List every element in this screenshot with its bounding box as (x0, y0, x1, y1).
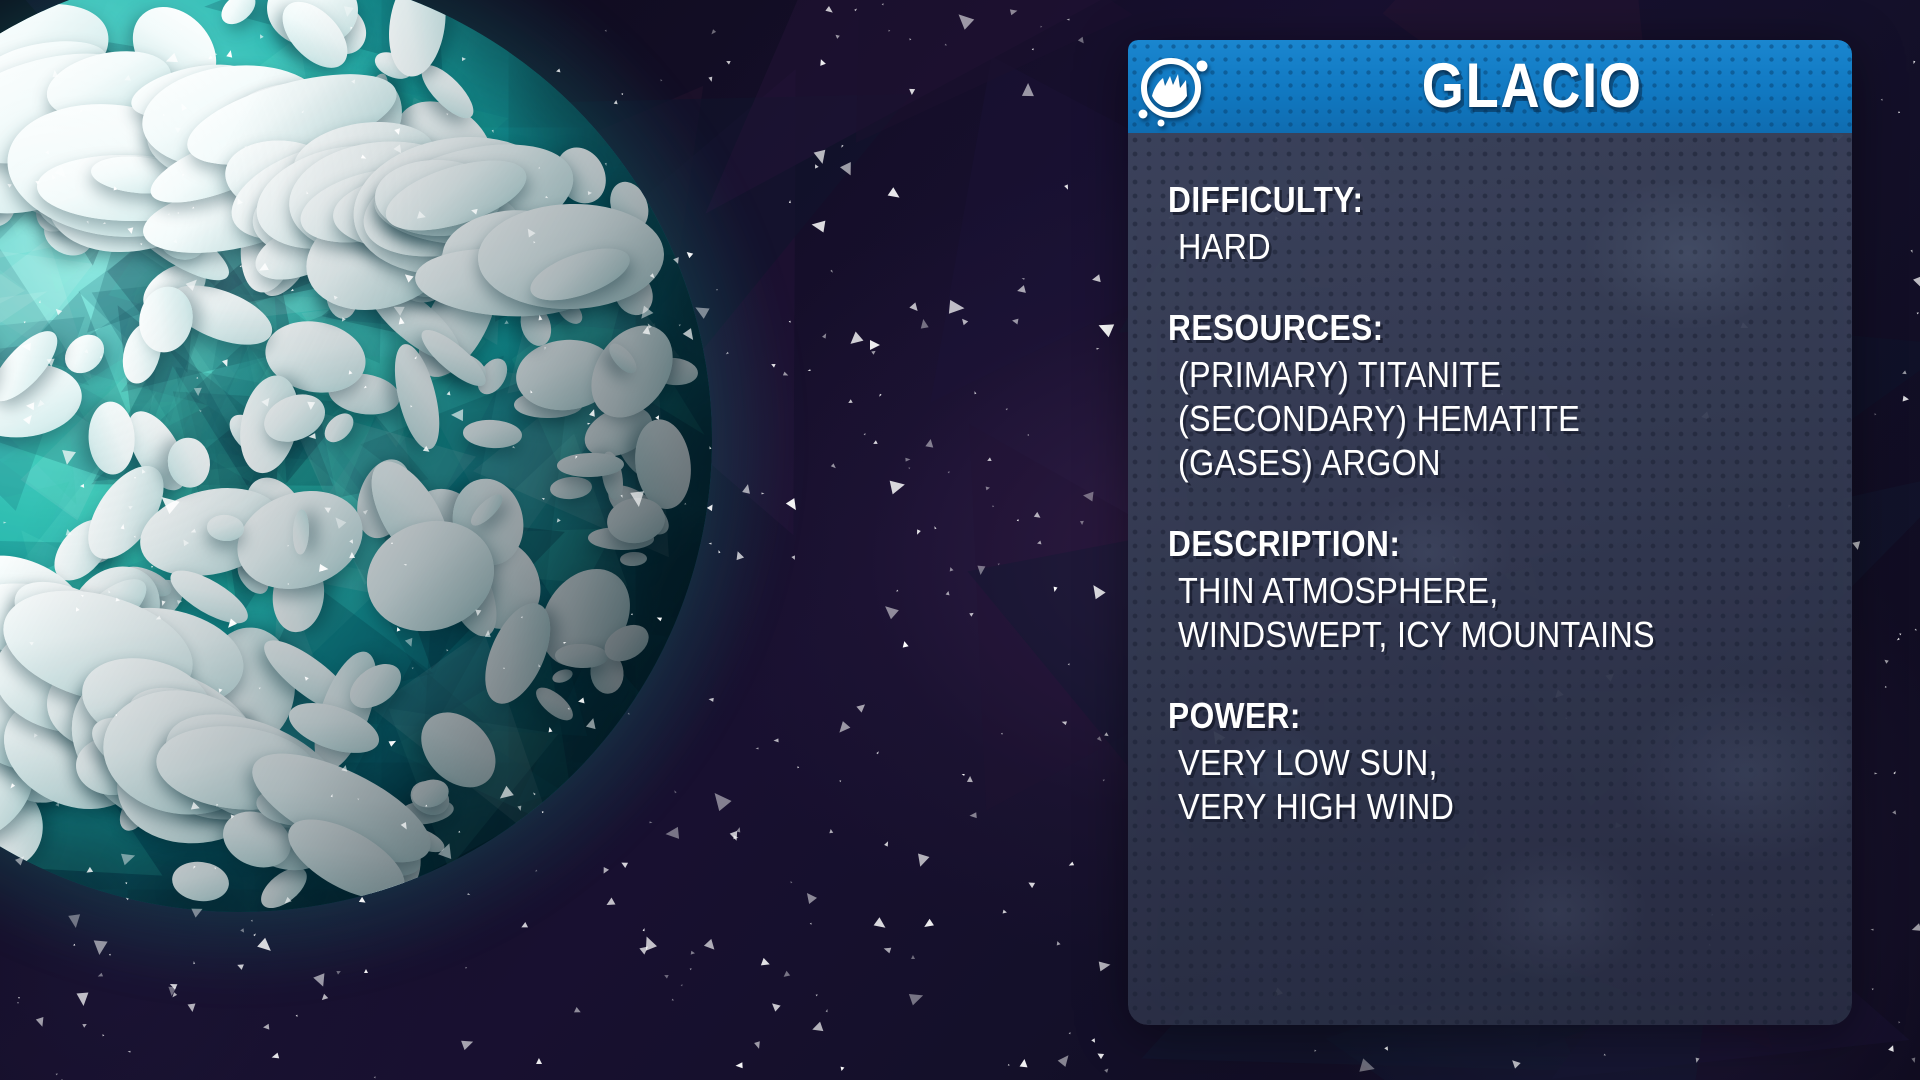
particle (34, 180, 39, 185)
particle (649, 821, 652, 823)
particle (685, 250, 693, 258)
particle (403, 563, 406, 566)
particle (140, 243, 143, 246)
particle (734, 550, 744, 560)
particle (485, 630, 491, 637)
particle (949, 300, 965, 315)
particle (830, 269, 833, 273)
particle (673, 790, 676, 794)
particle (230, 814, 235, 819)
particle (620, 495, 623, 499)
particle (116, 598, 121, 603)
particle (789, 881, 792, 884)
particle (190, 529, 196, 534)
particle (1881, 99, 1884, 102)
particle (961, 773, 964, 776)
particle (840, 162, 856, 178)
card-body: DIFFICULTY:HARDRESOURCES:(PRIMARY) TITAN… (1128, 133, 1852, 1025)
particle (524, 227, 535, 238)
particle (1096, 319, 1114, 337)
field-power: POWER:VERY LOW SUN,VERY HIGH WIND (1168, 695, 1822, 829)
particle (414, 356, 417, 360)
field-description: DESCRIPTION:THIN ATMOSPHERE,WINDSWEPT, I… (1168, 523, 1822, 657)
particle (401, 822, 410, 831)
field-value: THIN ATMOSPHERE, (1178, 569, 1758, 613)
particle (692, 302, 709, 319)
particle (359, 897, 367, 905)
particle (364, 969, 368, 973)
particle (332, 514, 347, 529)
particle (533, 241, 536, 244)
particle (681, 984, 684, 987)
page-title: GLACIO (1261, 55, 1808, 118)
field-label-difficulty: DIFFICULTY: (1168, 179, 1744, 221)
particle (287, 583, 289, 585)
particle (191, 206, 194, 209)
particle (258, 33, 263, 38)
particle (1885, 685, 1887, 687)
particle (1359, 1059, 1376, 1076)
particle (125, 882, 128, 885)
particle (179, 28, 181, 30)
particle (296, 1015, 299, 1018)
particle (451, 409, 463, 421)
particle (60, 450, 76, 466)
particle (803, 890, 817, 904)
particle (660, 78, 663, 81)
particle (1874, 772, 1877, 774)
particle (613, 100, 618, 105)
particle (54, 306, 62, 314)
particle (491, 130, 494, 133)
particle (1007, 1064, 1009, 1066)
particle (195, 377, 197, 379)
particle (871, 350, 877, 356)
particle (847, 399, 852, 404)
particle (1105, 1067, 1111, 1073)
particle (679, 323, 682, 326)
particle (970, 812, 978, 819)
particle (717, 550, 720, 554)
particle (258, 938, 276, 956)
particle (636, 306, 653, 323)
particle (1055, 940, 1060, 945)
particle (967, 776, 973, 782)
particle (895, 589, 898, 592)
particle (1068, 663, 1071, 666)
particle (1917, 311, 1920, 314)
card-header: GLACIO (1128, 40, 1852, 133)
particle (709, 543, 712, 545)
particle (323, 505, 331, 513)
field-label-resources: RESOURCES: (1168, 307, 1744, 349)
particle (574, 455, 577, 459)
particle (503, 321, 509, 327)
particle (914, 854, 929, 869)
particle (590, 408, 598, 417)
particle (870, 340, 880, 350)
particle (235, 197, 243, 205)
particle (123, 75, 131, 83)
particle (707, 503, 715, 511)
particle (605, 163, 608, 166)
particle (1871, 988, 1873, 990)
particle (909, 302, 920, 313)
particle (287, 544, 290, 547)
particle (192, 866, 195, 870)
particle (532, 792, 535, 796)
particle (46, 359, 55, 368)
particle (396, 626, 401, 631)
particle (846, 331, 863, 348)
particle (1898, 1021, 1901, 1024)
particle (81, 594, 85, 597)
particle (259, 686, 262, 689)
particle (987, 457, 992, 462)
particle (909, 89, 915, 95)
particle (341, 317, 347, 323)
particle (181, 538, 189, 546)
particle (160, 600, 165, 606)
particle (1385, 1047, 1391, 1053)
particle (873, 440, 878, 445)
particle (244, 145, 248, 148)
particle (1012, 317, 1019, 324)
particle (1078, 37, 1086, 45)
particle (412, 667, 415, 670)
field-value: WINDSWEPT, ICY MOUNTAINS (1178, 613, 1758, 657)
particle (755, 747, 758, 749)
particle (829, 829, 834, 834)
particle (84, 349, 90, 355)
particle (888, 30, 891, 33)
field-value: (PRIMARY) TITANITE (1178, 353, 1758, 397)
particle (1903, 396, 1910, 403)
particle (650, 273, 656, 279)
particle (1912, 61, 1915, 64)
particle (555, 518, 561, 524)
particle (240, 928, 246, 934)
particle (1027, 880, 1035, 888)
particle (1080, 521, 1084, 525)
particle (80, 484, 84, 488)
particle (691, 951, 696, 956)
particle (574, 1007, 582, 1015)
particle (890, 478, 907, 495)
particle (263, 1024, 270, 1031)
particle (17, 1002, 19, 1004)
particle (462, 57, 466, 61)
particle (350, 540, 355, 545)
particle (410, 404, 413, 407)
particle (1005, 408, 1008, 411)
particle (1096, 736, 1102, 742)
particle (1091, 1038, 1097, 1044)
particle (1911, 923, 1920, 933)
particle (986, 485, 991, 490)
particle (1066, 18, 1069, 20)
particle (215, 53, 218, 56)
particle (1314, 1050, 1317, 1053)
particle (544, 347, 547, 350)
particle (1001, 732, 1003, 734)
particle (1061, 720, 1067, 725)
particle (423, 446, 431, 454)
particle (446, 113, 449, 116)
particle (642, 928, 645, 931)
particle (97, 507, 101, 510)
particle (388, 738, 397, 747)
particle (1102, 778, 1105, 781)
particle (946, 591, 951, 596)
particle (556, 68, 561, 73)
particle (1893, 810, 1899, 816)
particle (735, 1062, 742, 1068)
particle (1099, 960, 1112, 972)
particle (726, 352, 730, 355)
particle (467, 893, 471, 896)
particle (23, 320, 26, 323)
particle (512, 446, 516, 449)
particle (1915, 629, 1918, 632)
particle (716, 289, 718, 291)
particle (92, 941, 107, 956)
particle (1032, 47, 1035, 50)
particle (198, 409, 202, 413)
particle (811, 1021, 824, 1034)
particle (630, 491, 646, 508)
particle (222, 359, 230, 368)
particle (214, 867, 217, 870)
particle (915, 529, 921, 535)
particle (28, 640, 33, 645)
particle (628, 713, 631, 716)
particle (313, 973, 329, 989)
particle (155, 616, 161, 622)
particle (734, 835, 739, 839)
particle (620, 860, 628, 868)
particle (336, 969, 341, 974)
particle (655, 615, 661, 621)
particle (604, 29, 607, 32)
particle (225, 618, 237, 630)
particle (262, 395, 273, 406)
particle (545, 196, 549, 199)
particle (32, 734, 38, 740)
particle (447, 390, 452, 395)
particle (808, 369, 811, 372)
particle (140, 468, 145, 473)
particle (348, 369, 353, 374)
particle (1913, 275, 1920, 291)
particle (193, 961, 195, 964)
particle (361, 155, 367, 161)
particle (905, 457, 910, 461)
particle (394, 129, 401, 136)
particle (933, 526, 936, 530)
particle (1037, 540, 1042, 545)
particle (1068, 862, 1074, 868)
particle (356, 797, 359, 800)
particle (521, 615, 524, 618)
particle (789, 321, 792, 324)
particle (810, 219, 825, 233)
particle (341, 764, 348, 771)
particle (100, 355, 102, 358)
particle (969, 612, 975, 618)
particle (683, 503, 686, 506)
particle (174, 239, 180, 245)
particle (271, 1053, 279, 1061)
particle (520, 922, 528, 930)
particle (1064, 184, 1070, 190)
particle (393, 145, 404, 156)
particle (438, 841, 456, 859)
particle (1096, 348, 1099, 351)
particle (954, 10, 975, 30)
particle (810, 923, 813, 926)
particle (471, 208, 478, 215)
particle (126, 897, 130, 900)
particle (826, 1009, 829, 1012)
particle (283, 897, 292, 906)
particle (207, 56, 213, 62)
particle (1088, 581, 1105, 598)
particle (517, 805, 522, 811)
particle (577, 697, 584, 704)
particle (877, 751, 880, 755)
particle (948, 470, 951, 473)
particle (188, 1003, 197, 1012)
particle (1510, 1057, 1521, 1068)
particle (825, 6, 834, 15)
particle (742, 483, 752, 494)
particle (177, 599, 183, 604)
particle (3, 521, 6, 523)
planet-info-card: GLACIO DIFFICULTY:HARDRESOURCES:(PRIMARY… (1128, 40, 1852, 1025)
particle (240, 265, 243, 268)
field-difficulty: DIFFICULTY:HARD (1168, 179, 1822, 269)
particle (536, 1058, 542, 1064)
particle (663, 973, 668, 978)
particle (704, 939, 718, 953)
particle (761, 958, 771, 968)
particle (1603, 1054, 1606, 1057)
particle (992, 505, 994, 507)
field-resources: RESOURCES:(PRIMARY) TITANITE(SECONDARY) … (1168, 307, 1822, 485)
particle (97, 973, 103, 979)
particle (977, 565, 986, 575)
particle (840, 1066, 845, 1071)
field-value: (SECONDARY) HEMATITE (1178, 397, 1758, 441)
ice-planet-icon (1130, 44, 1216, 130)
particle (534, 869, 537, 872)
particle (789, 200, 791, 203)
particle (458, 831, 461, 834)
particle (708, 697, 714, 702)
particle (397, 316, 404, 324)
particle (538, 315, 543, 321)
particle (1034, 512, 1042, 520)
particle (185, 276, 200, 291)
particle (1010, 8, 1018, 16)
particle (301, 110, 304, 114)
particle (1898, 111, 1900, 113)
particle (1022, 83, 1034, 96)
particle (156, 491, 179, 514)
particle (567, 708, 570, 711)
particle (39, 300, 41, 303)
particle (257, 263, 269, 274)
particle (673, 257, 681, 265)
particle (1052, 587, 1057, 593)
field-values-difficulty: HARD (1168, 225, 1822, 269)
particle (960, 317, 968, 325)
particle (363, 386, 367, 389)
particle (1871, 928, 1874, 930)
particle (1901, 370, 1906, 375)
particle (1020, 1059, 1029, 1068)
particle (887, 187, 902, 201)
particle (1852, 541, 1861, 550)
particle (1874, 412, 1877, 415)
particle (405, 638, 415, 648)
particle (72, 943, 75, 946)
particle (332, 294, 338, 300)
particle (878, 393, 881, 397)
particle (236, 962, 244, 970)
particle (1091, 274, 1100, 283)
particle (974, 390, 977, 393)
particle (113, 186, 118, 191)
field-value: HARD (1178, 225, 1758, 269)
particle (655, 415, 660, 420)
particle (604, 897, 615, 908)
particle (1039, 26, 1042, 29)
particle (816, 994, 819, 997)
particle (363, 509, 369, 515)
particle (689, 968, 692, 971)
particle (786, 499, 800, 514)
planet-info-screen: GLACIO DIFFICULTY:HARDRESOURCES:(PRIMARY… (0, 0, 1920, 1080)
particle (1016, 285, 1026, 295)
particle (831, 464, 837, 470)
particle (944, 44, 947, 47)
particle (791, 556, 796, 561)
particle (1910, 249, 1913, 253)
particle (425, 805, 428, 808)
particle (563, 641, 566, 644)
field-values-resources: (PRIMARY) TITANITE(SECONDARY) HEMATITE(G… (1168, 353, 1822, 485)
particle (85, 867, 93, 875)
particle (588, 191, 592, 195)
particle (319, 993, 327, 1001)
particle (36, 1017, 46, 1028)
particle (1893, 770, 1896, 774)
particle (754, 1041, 762, 1049)
particle (708, 77, 713, 83)
particle (882, 3, 885, 6)
particle (216, 804, 218, 807)
particle (107, 590, 110, 594)
particle (330, 794, 333, 797)
particle (167, 212, 170, 215)
particle (671, 999, 674, 1002)
particle (542, 811, 544, 813)
particle (75, 607, 80, 612)
particle (182, 173, 185, 176)
particle (708, 788, 731, 811)
